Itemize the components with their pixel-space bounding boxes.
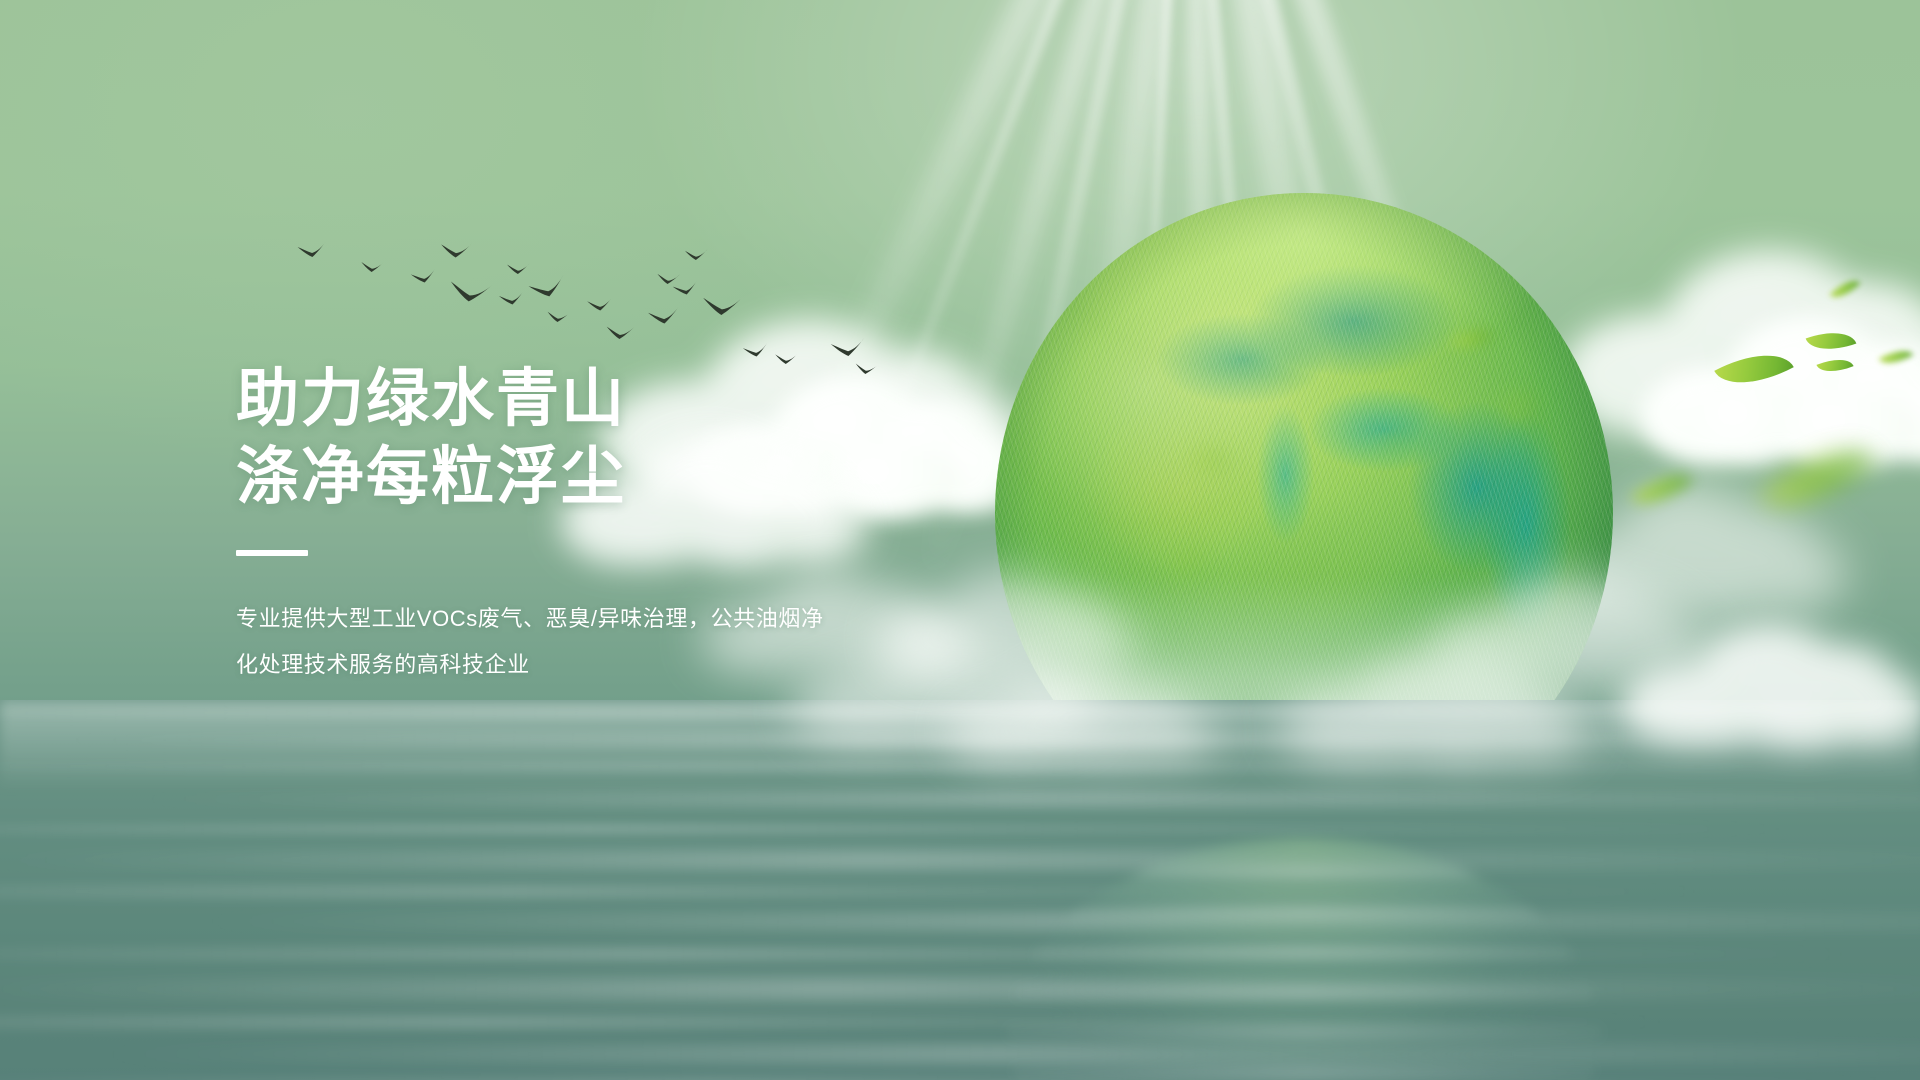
globe-water-reflection: [1005, 838, 1603, 1080]
water-ripple: [125, 792, 1920, 806]
subtitle-line-1: 专业提供大型工业VOCs废气、恶臭/异味治理，公共油烟净: [236, 596, 876, 642]
water-ripple: [0, 762, 1920, 771]
headline-line-1: 助力绿水青山: [236, 360, 916, 438]
subtitle: 专业提供大型工业VOCs废气、恶臭/异味治理，公共油烟净 化处理技术服务的高科技…: [236, 596, 876, 688]
hero-banner: 助力绿水青山 涤净每粒浮尘 专业提供大型工业VOCs废气、恶臭/异味治理，公共油…: [0, 0, 1920, 1080]
water-ripple: [0, 824, 1835, 834]
reflection-ripple: [1005, 908, 1603, 917]
reflection-ripple: [1005, 1068, 1603, 1077]
reflection-ripple: [1005, 868, 1603, 877]
banner-copy: 助力绿水青山 涤净每粒浮尘 专业提供大型工业VOCs废气、恶臭/异味治理，公共油…: [236, 360, 916, 688]
headline-divider: [236, 550, 308, 556]
reflection-ripple: [1005, 988, 1603, 997]
water-surface: [0, 700, 1920, 1080]
water-ripple: [0, 948, 1895, 960]
reflection-ripple: [1005, 1028, 1603, 1037]
headline-line-2: 涤净每粒浮尘: [236, 438, 916, 516]
subtitle-line-2: 化处理技术服务的高科技企业: [236, 642, 876, 688]
water-ripple: [85, 1046, 1920, 1062]
reflection-ripple: [1005, 948, 1603, 957]
water-ripple: [0, 852, 1920, 868]
water-ripple: [0, 980, 1920, 998]
